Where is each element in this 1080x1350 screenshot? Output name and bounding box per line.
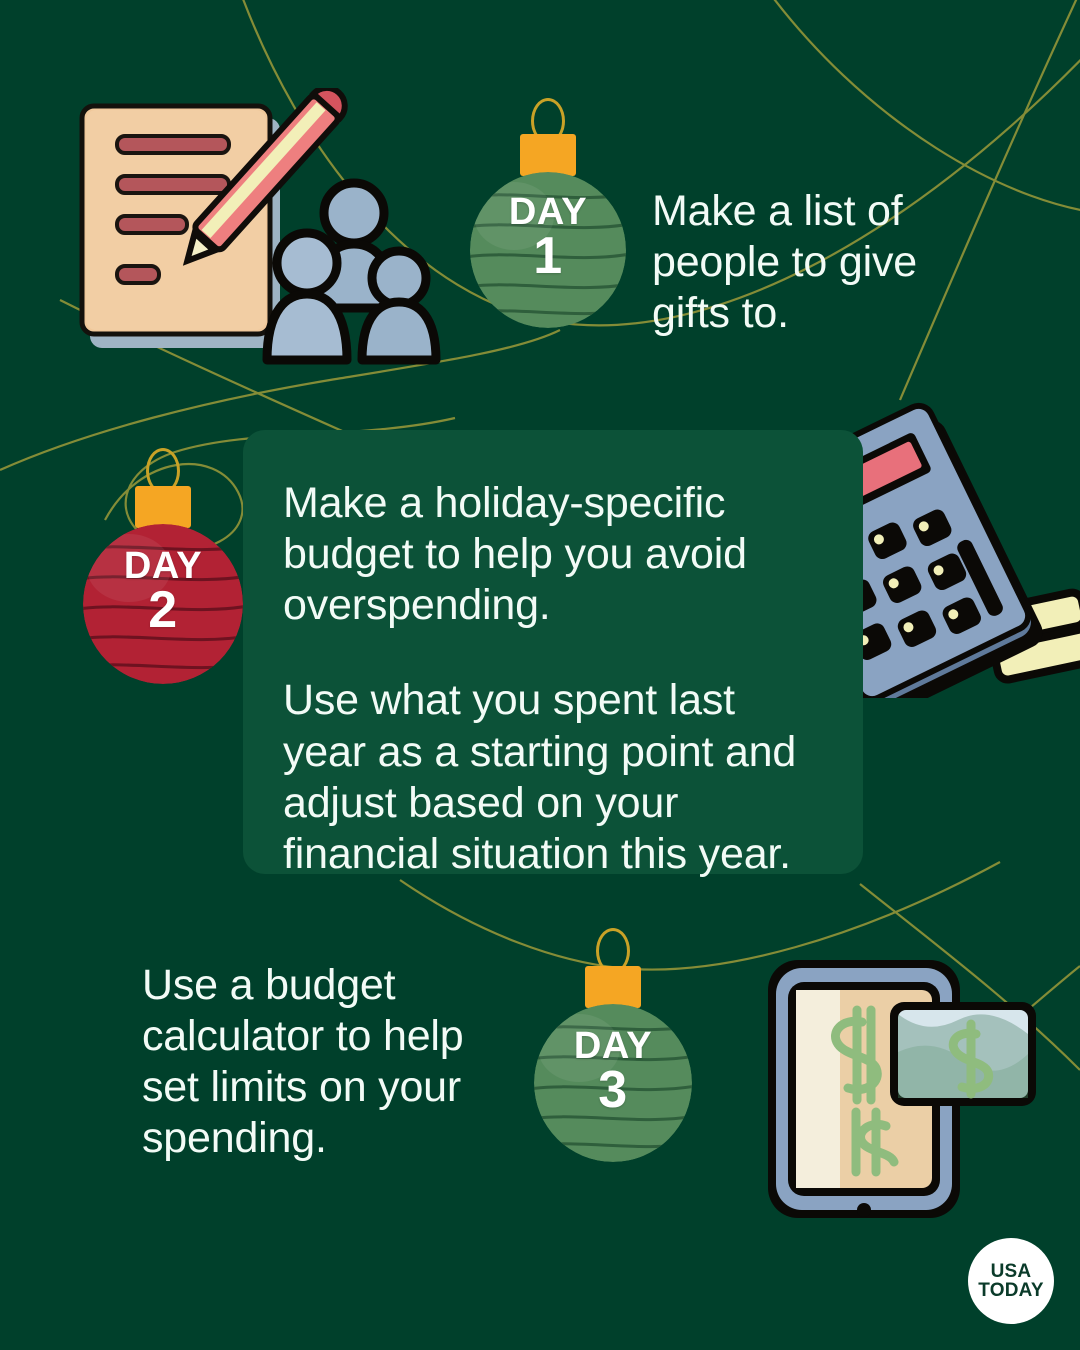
day-3-text: Use a budget calculator to help set limi…: [142, 960, 542, 1165]
day-2-text-secondary: Use what you spent last year as a starti…: [283, 675, 823, 880]
day-2-text-primary: Make a holiday-specific budget to help y…: [283, 478, 823, 631]
day-word: DAY: [470, 194, 626, 231]
ornament-day-3: DAY 3: [534, 928, 692, 1140]
day-1-text: Make a list of people to give gifts to.: [652, 186, 982, 339]
day-2-card: Make a holiday-specific budget to help y…: [243, 430, 863, 874]
day-word: DAY: [83, 548, 243, 585]
usa-today-logo: USA TODAY: [968, 1238, 1054, 1324]
ornament-day-3-label: DAY 3: [534, 1028, 692, 1116]
ornament-day-1: DAY 1: [470, 98, 626, 308]
smartphone-money-illustration: [744, 944, 1040, 1234]
notepad-pencil-people-illustration: [62, 88, 462, 393]
ornament-day-2-label: DAY 2: [83, 548, 243, 636]
day-number: 1: [470, 231, 626, 282]
infographic-canvas: DAY 1 Make a list of people to give gift…: [0, 0, 1080, 1350]
ornament-cap-icon: [520, 134, 576, 176]
logo-line-1: USA: [991, 1262, 1032, 1281]
day-word: DAY: [534, 1028, 692, 1065]
ornament-day-2: DAY 2: [83, 448, 243, 662]
ornament-cap-icon: [135, 486, 191, 528]
ornament-cap-icon: [585, 966, 641, 1008]
logo-line-2: TODAY: [978, 1281, 1043, 1300]
day-number: 3: [534, 1065, 692, 1116]
ornament-day-1-label: DAY 1: [470, 194, 626, 282]
day-number: 2: [83, 585, 243, 636]
